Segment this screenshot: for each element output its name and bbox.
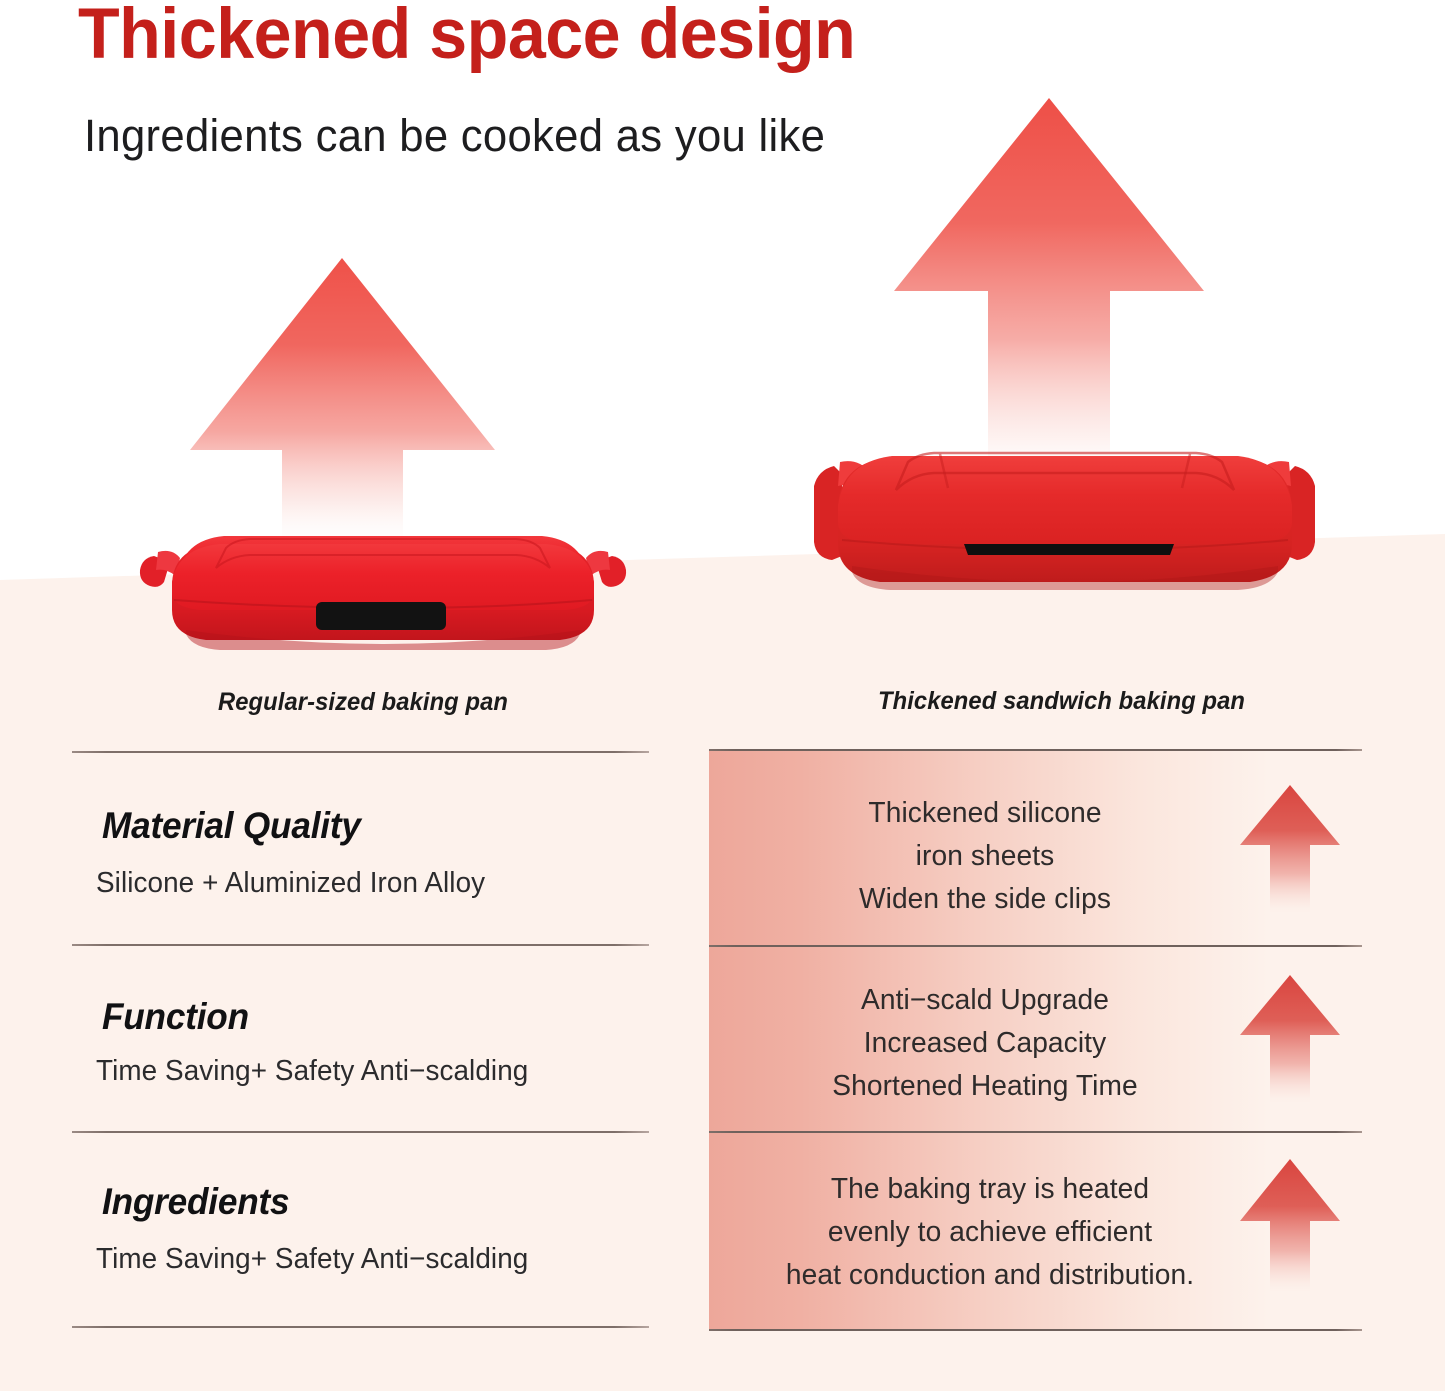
panel-line: The baking tray is heated [748, 1168, 1233, 1211]
feature-description: Time Saving+ Safety Anti−scalding [96, 1243, 528, 1276]
feature-title: Function [102, 996, 249, 1038]
panel-line: Increased Capacity [757, 1022, 1213, 1065]
up-arrow-icon-panel-2 [1240, 975, 1340, 1105]
feature-description: Time Saving+ Safety Anti−scalding [96, 1055, 528, 1088]
feature-description: Silicone + Aluminized Iron Alloy [96, 867, 485, 900]
regular-baking-pan-image [138, 530, 628, 660]
up-arrow-icon-left [190, 258, 495, 548]
panel-line: iron sheets [757, 835, 1213, 878]
divider-left-4 [72, 1326, 649, 1328]
up-arrow-icon-panel-1 [1240, 785, 1340, 915]
panel-line: Widen the side clips [757, 878, 1213, 921]
feature-title: Ingredients [102, 1181, 289, 1223]
up-arrow-icon-panel-3 [1240, 1159, 1340, 1294]
divider-left-3 [72, 1131, 649, 1133]
caption-regular-pan: Regular-sized baking pan [218, 688, 508, 717]
panel-line: heat conduction and distribution. [748, 1254, 1233, 1297]
caption-thickened-pan: Thickened sandwich baking pan [878, 687, 1245, 716]
panel-text-2: Anti−scald Upgrade Increased Capacity Sh… [750, 979, 1220, 1108]
panel-text-3: The baking tray is heated evenly to achi… [740, 1168, 1240, 1297]
divider-right-4 [709, 1329, 1362, 1331]
up-arrow-icon-right [894, 98, 1204, 488]
panel-line: Anti−scald Upgrade [757, 979, 1213, 1022]
page-title: Thickened space design [78, 0, 855, 73]
panel-line: evenly to achieve efficient [748, 1211, 1233, 1254]
divider-left-1 [72, 751, 649, 753]
feature-title: Material Quality [102, 805, 361, 847]
page-subtitle: Ingredients can be cooked as you like [84, 110, 825, 162]
panel-line: Shortened Heating Time [757, 1065, 1213, 1108]
divider-left-2 [72, 944, 649, 946]
panel-text-1: Thickened silicone iron sheets Widen the… [750, 792, 1220, 921]
panel-line: Thickened silicone [757, 792, 1213, 835]
thickened-sandwich-baking-pan-image [812, 448, 1317, 603]
